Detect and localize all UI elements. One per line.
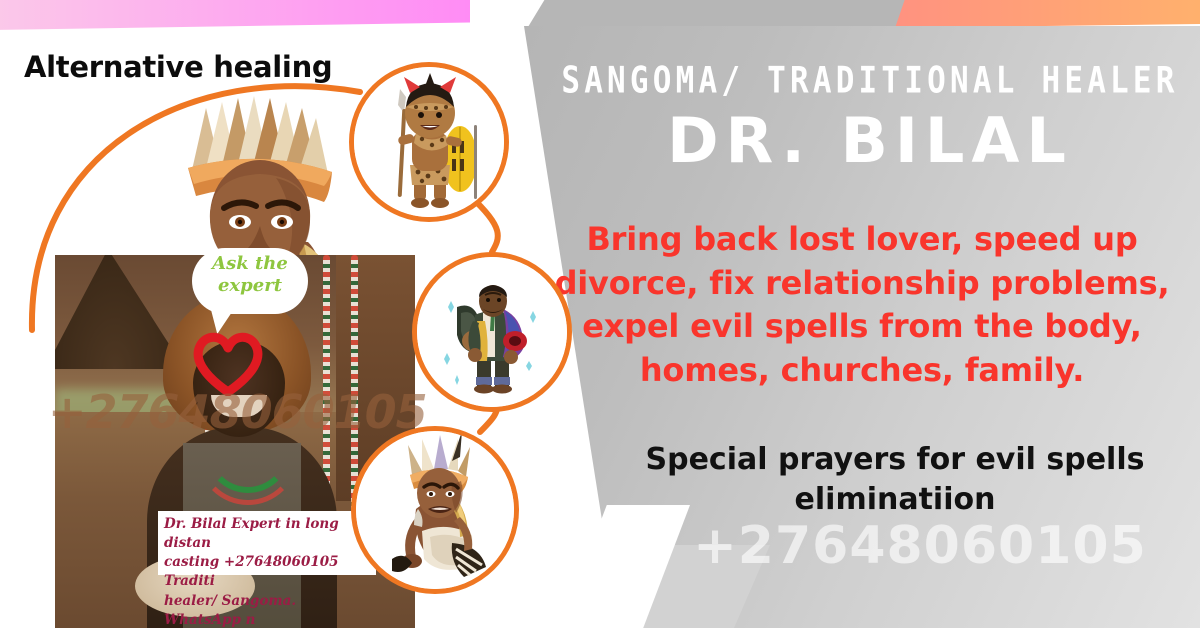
badge-robed-healer [412,252,572,412]
healer-name: DR. BILAL [560,110,1180,172]
robed-healer-icon [417,257,567,407]
badge-crouching-warrior [351,426,519,594]
top-stripe-orange [895,0,1200,28]
caption-line-3: healer/ Sangoma. WhatsApp n [164,592,370,628]
caption-line-1: Dr. Bilal Expert in long distan [164,515,370,553]
poster-canvas: Alternative healing [0,0,1200,628]
special-offer-text: Special prayers for evil spells eliminat… [600,440,1190,520]
badge-zulu-warrior-cartoon [349,62,509,222]
speech-bubble-label: Ask the expert [192,253,308,297]
zulu-warrior-cartoon-icon [354,67,504,217]
headline-eyebrow: SANGOMA/ TRADITIONAL HEALER [560,62,1180,100]
ghost-phone-number: +27648060105 [640,520,1200,572]
photo-watermark-phone: +27648060105 [48,385,448,439]
photo-caption-box: Dr. Bilal Expert in long distan casting … [158,511,376,575]
crouching-warrior-icon [356,431,514,589]
services-text: Bring back lost lover, speed up divorce,… [542,218,1182,392]
caption-line-2: casting +27648060105 Traditi [164,553,370,591]
